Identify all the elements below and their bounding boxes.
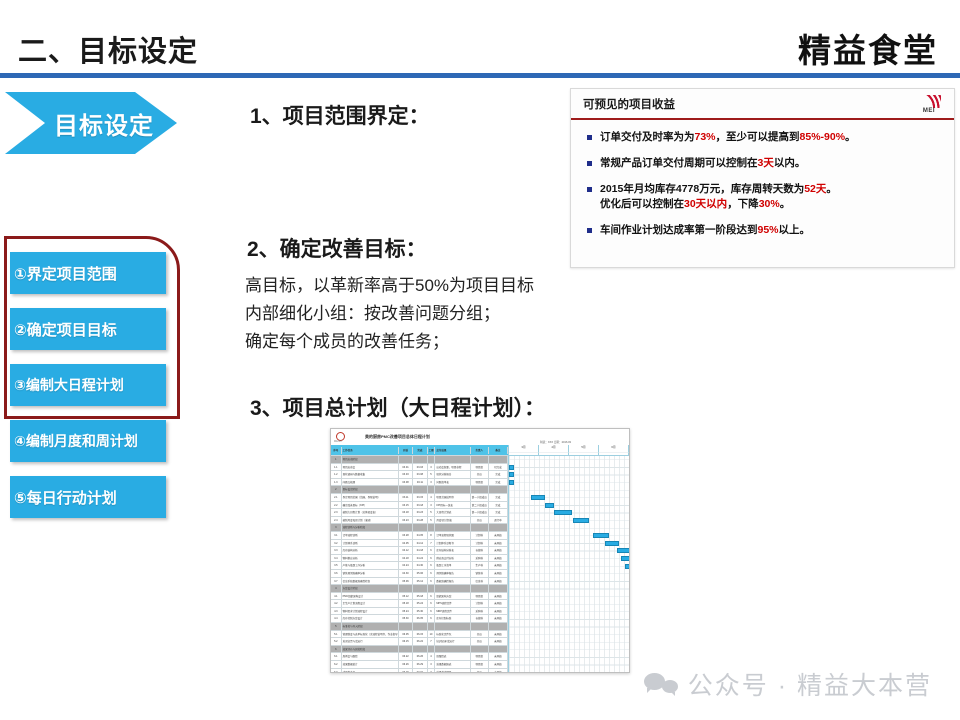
gantt-section-row: 2目标设定阶段 (331, 486, 508, 494)
gantt-cell (399, 646, 413, 653)
gantt-section-row: 3流程诊断与分析阶段 (331, 524, 508, 532)
gantt-cell: 06.15 (399, 638, 413, 645)
gantt-cell: 物料供应分析 (342, 555, 399, 562)
gantt-meta: 制表：XXX 日期：2016.03 (540, 440, 571, 444)
gantt-cell: 6 (331, 646, 342, 653)
gantt-cell: MRP流程文件 (435, 608, 470, 615)
sidebar-item-set-goals[interactable]: ②确定项目目标 (10, 308, 166, 350)
gantt-cell: 主生产计划流程设计 (342, 600, 399, 607)
gantt-task-row: 4.2主生产计划流程设计05.1805.246MPS流程文件计划科未开始 (331, 600, 508, 608)
gantt-cell: 03.23 (413, 509, 427, 516)
gantt-cell: 3.2 (331, 540, 342, 547)
sidebar-item-label: ①界定项目范围 (14, 263, 117, 284)
benefit-text: 。 (826, 183, 837, 195)
benefit-text: 。 (780, 198, 791, 210)
gantt-cell: 未开始 (489, 593, 508, 600)
gantt-cell: 06.26 (399, 661, 413, 668)
sidebar-item-monthly-weekly-plan[interactable]: ④编制月度和周计划 (10, 420, 166, 462)
gantt-cell: 完成 (489, 471, 508, 478)
gantt-task-row: 4.1PMC组织架构设计05.1205.186组织架构方案项目组未开始 (331, 593, 508, 601)
gantt-cell (399, 456, 413, 463)
gantt-cell: 03.01 (399, 464, 413, 471)
gantt-cell: 6.1 (331, 653, 342, 660)
gantt-cell: 未开始 (489, 615, 508, 622)
gantt-cell: 完成 (489, 479, 508, 486)
gantt-column-header: 备注 (489, 447, 508, 454)
gantt-cell: 7 (428, 540, 436, 547)
gantt-cell: 全员 (471, 631, 489, 638)
gantt-cell: 03.08 (413, 471, 427, 478)
gantt-bar (573, 518, 589, 523)
gantt-cell: 06.05 (413, 615, 427, 622)
gantt-cell: 成果发表会 (342, 669, 399, 673)
gantt-bar (509, 480, 514, 485)
gantt-cell (435, 486, 470, 493)
sidebar-item-daily-action-plan[interactable]: ⑤每日行动计划 (10, 476, 166, 518)
gantt-cell: 6 (428, 570, 436, 577)
gantt-cell: 3 (428, 464, 436, 471)
gantt-cell: 项目组 (471, 479, 489, 486)
gantt-column-header: 完成 (413, 447, 427, 454)
gantt-cell: 3 (428, 479, 436, 486)
gantt-body: 序号工作任务开始完成工期交付成果负责人备注1项目启动阶段1.1项目启动会03.0… (331, 445, 629, 673)
gantt-cell: 04.05 (399, 540, 413, 547)
benefit-item: 车间作业计划达成率第一阶段达到95%以上。 (585, 223, 944, 238)
gantt-cell (399, 524, 413, 531)
logo-wordmark: MEI (923, 108, 935, 114)
gantt-cell: 3 (428, 661, 436, 668)
gantt-cell: 未开始 (489, 600, 508, 607)
gantt-section-row: 1项目启动阶段 (331, 456, 508, 464)
gantt-cell: 未开始 (489, 661, 508, 668)
gantt-cell: 10 (428, 631, 436, 638)
gantt-cell (471, 585, 489, 592)
sidebar-item-master-schedule[interactable]: ③编制大日程计划 (10, 364, 166, 406)
section-banner-label: 目标设定 (28, 106, 154, 141)
gantt-task-row: 1.1项目启动会03.0103.033启动会纪要、项目章程项目组已完成 (331, 464, 508, 472)
gantt-cell: 未开始 (489, 547, 508, 554)
gantt-cell: 03.15 (399, 502, 413, 509)
gantt-task-row: 6.3成果发表会06.2907.023成果发表PPT全员未开始 (331, 669, 508, 673)
gantt-cell: 03.11 (399, 494, 413, 501)
gantt-cell: 已完成 (489, 464, 508, 471)
gantt-cell: 瓶颈工序清单 (435, 562, 470, 569)
gantt-task-row: 4.4库存控制方案设计05.3006.056库存控制标准仓储科未开始 (331, 615, 508, 623)
gantt-task-table: 序号工作任务开始完成工期交付成果负责人备注1项目启动阶段1.1项目启动会03.0… (331, 445, 509, 673)
gantt-cell: PMC组织架构设计 (342, 593, 399, 600)
gantt-cell: 05.30 (413, 608, 427, 615)
gantt-cell (413, 524, 427, 531)
gantt-header-row: 序号工作任务开始完成工期交付成果负责人备注 (331, 445, 508, 456)
gantt-bar (554, 510, 572, 515)
gantt-cell: 4.2 (331, 600, 342, 607)
gantt-cell: 物料需求计划流程设计 (342, 608, 399, 615)
gantt-cell: 效果数据统计 (342, 661, 399, 668)
gantt-cell: 3 (428, 502, 436, 509)
gantt-task-row: 3.1订单流程诊断03.2804.058订单流程现状图计划科未开始 (331, 532, 508, 540)
gantt-section-row: 4方案设计阶段 (331, 585, 508, 593)
gantt-cell (428, 524, 436, 531)
gantt-cell (413, 486, 427, 493)
gantt-cell: 3.3 (331, 547, 342, 554)
gantt-cell: 库存结构分析表 (435, 547, 470, 554)
gantt-cell: 6.2 (331, 661, 342, 668)
sidebar-item-label: ⑤每日行动计划 (14, 487, 117, 508)
gantt-bar (605, 541, 619, 546)
gantt-task-row: 4.3物料需求计划流程设计05.2405.306MRP流程文件采购科未开始 (331, 608, 508, 616)
gantt-cell: 项目启动会 (342, 464, 399, 471)
gantt-cell: 4 (428, 653, 436, 660)
gantt-cell (399, 486, 413, 493)
section-2-line: 内部细化小组：按改善问题分组； (245, 300, 585, 328)
gantt-cell: 06.05 (399, 631, 413, 638)
gantt-cell: 界定项目范围（范围、界限说明） (342, 494, 399, 501)
gantt-column-header: 序号 (331, 447, 342, 454)
gantt-cell: 未开始 (489, 578, 508, 585)
gantt-task-row: 5.1管理制度与表单标准化（含流程说明书、作业指导书等文件编制）06.0506.… (331, 631, 508, 639)
gantt-cell: 生产科 (471, 562, 489, 569)
gantt-cell (489, 623, 508, 630)
benefit-text: 车间作业计划达成率第一阶段达到 (600, 224, 758, 236)
gantt-bar (629, 571, 630, 576)
gantt-cell: 组织架构方案 (435, 593, 470, 600)
gantt-cell (489, 456, 508, 463)
gantt-cell: 06.22 (399, 653, 413, 660)
gantt-cell: 2.3 (331, 509, 342, 516)
gantt-cell: 3.5 (331, 562, 342, 569)
gantt-cell: 4 (428, 494, 436, 501)
gantt-cell: 6 (428, 547, 436, 554)
gantt-task-row: 3.3库存结构分析04.1204.186库存结构分析表仓储科未开始 (331, 547, 508, 555)
gantt-cell (435, 524, 470, 531)
gantt-cell: MPS流程文件 (435, 600, 470, 607)
gantt-section-row: 5标准化与导入阶段 (331, 623, 508, 631)
gantt-cell: 04.12 (413, 540, 427, 547)
gantt-row-lines (509, 445, 629, 673)
gantt-cell: 周跟踪表 (435, 653, 470, 660)
gantt-cell: 第一小组成员 (471, 509, 489, 516)
gantt-cell: 未开始 (489, 562, 508, 569)
gantt-cell: 项目组 (471, 653, 489, 660)
gantt-bar (617, 548, 630, 553)
gantt-cell: 04.12 (399, 547, 413, 554)
gantt-cell: 5 (428, 471, 436, 478)
gantt-cell: 3.6 (331, 570, 342, 577)
gantt-cell: 1.1 (331, 464, 342, 471)
section-1-title: 1、项目范围界定： (250, 100, 430, 130)
gantt-cell: 07.02 (413, 669, 427, 673)
gantt-cell: 标准化文件包 (435, 631, 470, 638)
gantt-cell: 进行中 (489, 517, 508, 524)
benefit-text: 以内。 (774, 157, 806, 169)
gantt-cell: 大日程计划表 (435, 509, 470, 516)
gantt-cell (489, 585, 508, 592)
gantt-cell: 未开始 (489, 540, 508, 547)
gantt-cell (428, 623, 436, 630)
slide-root: 二、目标设定 精益食堂 目标设定 ①界定项目范围 ②确定项目目标 ③编制大日程计… (0, 0, 960, 720)
gantt-cell: 3.7 (331, 578, 342, 585)
gantt-cell: 现状调研与数据收集 (342, 471, 399, 478)
gantt-task-row: 3.7信息系统数据准确性检查05.0605.126数据准确性报告信息科未开始 (331, 578, 508, 586)
gantt-cell: 仓储科 (471, 547, 489, 554)
watermark-text: 公众号 · 精益大本营 (688, 666, 932, 702)
gantt-cell: 6 (428, 562, 436, 569)
benefit-text: ，至少可以提高到 (716, 131, 800, 143)
gantt-bar (625, 564, 630, 569)
company-logo-icon: MEI (912, 91, 946, 117)
gantt-cell (413, 623, 427, 630)
gantt-cell: 03.11 (413, 479, 427, 486)
gantt-cell: 4.4 (331, 615, 342, 622)
section-2-line: 确定每个成员的改善任务； (245, 328, 585, 356)
gantt-cell: 编制月度和周计划（滚动） (342, 517, 399, 524)
gantt-cell: 数据准确性报告 (435, 578, 470, 585)
gantt-cell: 未开始 (489, 608, 508, 615)
gantt-cell: 问题清单表 (435, 479, 470, 486)
gantt-cell: 效果评价与固化阶段 (342, 646, 399, 653)
gantt-cell: 项目组 (471, 464, 489, 471)
gantt-cell: 5.1 (331, 631, 342, 638)
gantt-cell (471, 524, 489, 531)
benefit-metric: 3天 (758, 157, 774, 169)
gantt-cell: 销售科 (471, 570, 489, 577)
sidebar-item-label: ④编制月度和周计划 (14, 431, 138, 451)
gantt-task-row: 3.5产能与瓶颈工序分析04.2404.306瓶颈工序清单生产科未开始 (331, 562, 508, 570)
gantt-cell: 5 (428, 509, 436, 516)
gantt-cell: 未开始 (489, 653, 508, 660)
gantt-cell: 03.08 (399, 479, 413, 486)
gantt-cell: 未开始 (489, 638, 508, 645)
gantt-topbar: MEIDI 美的厨房PMC改善项目总体日程计划 制表：XXX 日期：2016.0… (331, 429, 629, 445)
gantt-cell: 05.18 (413, 593, 427, 600)
gantt-cell: 04.30 (413, 562, 427, 569)
gantt-cell: 4.3 (331, 608, 342, 615)
gantt-cell: 计划科 (471, 540, 489, 547)
gantt-cell: 03.28 (399, 532, 413, 539)
gantt-cell: 03.03 (413, 464, 427, 471)
benefit-text: 2015年月均库存4778万元，库存周转天数为 (600, 183, 804, 195)
gantt-task-row: 6.1周例会与跟踪06.2206.264周跟踪表项目组未开始 (331, 653, 508, 661)
gantt-task-row: 5.2培训宣贯与试运行06.1506.227培训记录/试运行全员未开始 (331, 638, 508, 646)
gantt-cell: 05.12 (413, 578, 427, 585)
benefit-text: 以上。 (779, 224, 811, 236)
gantt-cell: 03.15 (413, 494, 427, 501)
gantt-cell: 3.1 (331, 532, 342, 539)
gantt-cell (471, 623, 489, 630)
gantt-cell: 项目组 (471, 661, 489, 668)
gantt-cell: 05.30 (399, 615, 413, 622)
gantt-cell: 效果数据报表 (435, 661, 470, 668)
gantt-cell: 3.4 (331, 555, 342, 562)
gantt-cell: 培训记录/试运行 (435, 638, 470, 645)
gantt-cell: 未开始 (489, 570, 508, 577)
gantt-cell: 5.2 (331, 638, 342, 645)
gantt-bar (545, 503, 554, 508)
gantt-cell: 03.23 (399, 517, 413, 524)
gantt-cell: KPI目标一览表 (435, 502, 470, 509)
gantt-cell: 1.3 (331, 479, 342, 486)
gantt-cell: 库存控制标准 (435, 615, 470, 622)
gantt-title: 美的厨房PMC改善项目总体日程计划 (365, 434, 430, 440)
gantt-cell (435, 646, 470, 653)
gantt-task-row: 2.4编制月度和周计划（滚动）03.2303.285月度/周计划表全员进行中 (331, 517, 508, 525)
section-2-body: 高目标，以革新率高于50%为项目目标 内部细化小组：按改善问题分组； 确定每个成… (245, 272, 585, 356)
gantt-timeline: 3月4月5月6月 (509, 445, 629, 673)
gantt-cell: 现状分析报告 (435, 471, 470, 478)
benefits-header: 可预见的项目收益 MEI (571, 89, 954, 120)
gantt-bar (509, 465, 514, 470)
gantt-cell (399, 585, 413, 592)
gantt-bar (593, 533, 609, 538)
gantt-task-row: 3.4物料供应分析04.1804.246供应商交付分析采购科未开始 (331, 555, 508, 563)
gantt-cell (435, 623, 470, 630)
gantt-cell: 库存控制方案设计 (342, 615, 399, 622)
gantt-cell (471, 456, 489, 463)
gantt-cell: 信息科 (471, 578, 489, 585)
gantt-cell: 2.4 (331, 517, 342, 524)
gantt-cell: 未开始 (489, 532, 508, 539)
gantt-cell: 03.28 (413, 517, 427, 524)
sidebar-item-define-scope[interactable]: ①界定项目范围 (10, 252, 166, 294)
gantt-cell: 完成 (489, 502, 508, 509)
gantt-cell (413, 585, 427, 592)
gantt-cell (489, 486, 508, 493)
gantt-cell: 流程诊断与分析阶段 (342, 524, 399, 531)
gantt-cell: 06.22 (413, 638, 427, 645)
gantt-cell: 产能与瓶颈工序分析 (342, 562, 399, 569)
gantt-column-header: 开始 (399, 447, 413, 454)
gantt-cell (413, 646, 427, 653)
gantt-cell: 全员 (471, 669, 489, 673)
gantt-cell (399, 623, 413, 630)
gantt-task-row: 2.3编制大日程计划（总体进度表）03.1803.235大日程计划表第一小组成员… (331, 509, 508, 517)
gantt-cell: 03.03 (399, 471, 413, 478)
wechat-icon (644, 671, 678, 697)
gantt-cell: 标准化与导入阶段 (342, 623, 399, 630)
gantt-cell: 05.24 (413, 600, 427, 607)
gantt-cell: 完成 (489, 509, 508, 516)
benefit-item: 2015年月均库存4778万元，库存周转天数为52天。优化后可以控制在30天以内… (585, 182, 944, 212)
gantt-logo-text: MEIDI (334, 440, 342, 443)
gantt-cell: 预测准确率报告 (435, 570, 470, 577)
gantt-cell: 问题点梳理 (342, 479, 399, 486)
gantt-task-row: 2.1界定项目范围（范围、界限说明）03.1103.154项目范围说明书第一小组… (331, 494, 508, 502)
gantt-cell: 6 (428, 608, 436, 615)
gantt-chart-image: MEIDI 美的厨房PMC改善项目总体日程计划 制表：XXX 日期：2016.0… (330, 428, 630, 673)
gantt-cell: 管理制度与表单标准化（含流程说明书、作业指导书等文件编制） (342, 631, 399, 638)
benefit-metric: 52天 (804, 183, 826, 195)
gantt-cell: 目标设定阶段 (342, 486, 399, 493)
gantt-cell: 05.06 (413, 570, 427, 577)
gantt-cell: 05.12 (399, 593, 413, 600)
gantt-column-header: 工作任务 (342, 447, 399, 454)
gantt-cell: 06.15 (413, 631, 427, 638)
gantt-cell: 确定改善目标（KPI） (342, 502, 399, 509)
benefit-metric: 73% (695, 131, 716, 143)
gantt-cell: 全员 (471, 638, 489, 645)
gantt-cell: 成果发表PPT (435, 669, 470, 673)
gantt-bar (621, 556, 630, 561)
gantt-cell: 第二小组成员 (471, 502, 489, 509)
gantt-bar (531, 495, 545, 500)
section-banner: 目标设定 (5, 92, 177, 154)
gantt-cell: 采购科 (471, 555, 489, 562)
gantt-cell: 第一小组成员 (471, 494, 489, 501)
gantt-cell: 03.18 (413, 502, 427, 509)
gantt-cell (489, 524, 508, 531)
gantt-cell: 未开始 (489, 555, 508, 562)
section-2-line: 高目标，以革新率高于50%为项目目标 (245, 272, 585, 300)
gantt-cell (428, 486, 436, 493)
benefit-text: 常规产品订单交付周期可以控制在 (600, 157, 758, 169)
gantt-cell: 采购科 (471, 608, 489, 615)
gantt-cell: 全员 (471, 471, 489, 478)
gantt-cell: 订单流程诊断 (342, 532, 399, 539)
section-3-title: 3、项目总计划（大日程计划）： (250, 392, 545, 422)
gantt-cell: 06.26 (413, 653, 427, 660)
benefits-list: 订单交付及时率为为73%，至少可以提高到85%-90%。常规产品订单交付周期可以… (571, 120, 954, 238)
gantt-cell: 完成 (489, 494, 508, 501)
gantt-cell: 6.3 (331, 669, 342, 673)
gantt-task-row: 3.2计划体系诊断04.0504.127计划体系诊断书计划科未开始 (331, 540, 508, 548)
gantt-cell: 5 (331, 623, 342, 630)
gantt-cell (435, 585, 470, 592)
gantt-cell: 6 (428, 615, 436, 622)
gantt-task-row: 6.2效果数据统计06.2606.293效果数据报表项目组未开始 (331, 661, 508, 669)
benefit-text: 优化后可以控制在 (600, 198, 684, 210)
sidebar-item-label: ③编制大日程计划 (14, 375, 124, 395)
gantt-cell (428, 585, 436, 592)
sidebar-item-label: ②确定项目目标 (14, 319, 117, 340)
gantt-cell: 计划科 (471, 600, 489, 607)
gantt-cell: 05.24 (399, 608, 413, 615)
gantt-cell: 编制大日程计划（总体进度表） (342, 509, 399, 516)
benefits-title: 可预见的项目收益 (571, 96, 675, 112)
gantt-cell: 计划科 (471, 532, 489, 539)
gantt-cell: 5 (428, 517, 436, 524)
gantt-cell: 6 (428, 578, 436, 585)
gantt-cell: 3 (331, 524, 342, 531)
gantt-cell (471, 646, 489, 653)
swoosh-icon (917, 95, 941, 108)
gantt-cell (471, 486, 489, 493)
gantt-cell: 未开始 (489, 631, 508, 638)
benefit-text: 。 (845, 131, 856, 143)
gantt-cell: 计划体系诊断书 (435, 540, 470, 547)
benefit-metric: 85%-90% (800, 131, 846, 143)
gantt-cell: 启动会纪要、项目章程 (435, 464, 470, 471)
gantt-cell: 6 (428, 555, 436, 562)
gantt-cell: 06.29 (399, 669, 413, 673)
gantt-cell: 6 (428, 600, 436, 607)
gantt-section-row: 6效果评价与固化阶段 (331, 646, 508, 654)
gantt-cell: 1 (331, 456, 342, 463)
gantt-cell (413, 456, 427, 463)
gantt-cell: 04.30 (399, 570, 413, 577)
benefit-metric: 30% (759, 198, 780, 210)
benefits-panel: 可预见的项目收益 MEI 订单交付及时率为为73%，至少可以提高到85%-90%… (570, 88, 955, 268)
watermark: 公众号 · 精益大本营 (644, 666, 932, 702)
gantt-cell: 周例会与跟踪 (342, 653, 399, 660)
gantt-cell: 方案设计阶段 (342, 585, 399, 592)
gantt-cell: 04.18 (413, 547, 427, 554)
gantt-cell: 7 (428, 638, 436, 645)
gantt-cell: 05.18 (399, 600, 413, 607)
gantt-cell: 3 (428, 669, 436, 673)
gantt-cell (489, 646, 508, 653)
gantt-cell: 06.29 (413, 661, 427, 668)
gantt-column-header: 交付成果 (435, 447, 470, 454)
